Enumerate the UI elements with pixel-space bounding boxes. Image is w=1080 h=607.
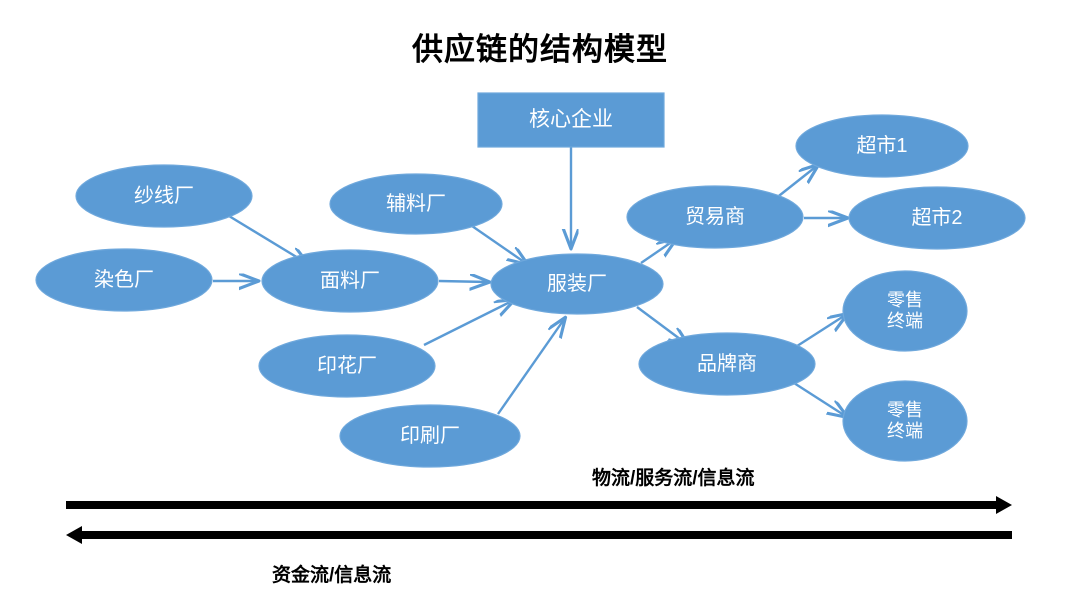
node-shape-fabric_factory[interactable] (262, 250, 438, 312)
flow-arrow-group (66, 496, 1012, 544)
node-shape-group (36, 93, 1025, 467)
flow-arrow-reverse_flow (66, 526, 1012, 544)
node-shape-garment_factory[interactable] (491, 254, 663, 314)
connector-fabric_factory-to-garment_factory (439, 281, 489, 282)
node-shape-retail_terminal_1[interactable] (843, 271, 967, 351)
node-shape-press_factory[interactable] (340, 405, 520, 467)
connector-brand_owner-to-retail_terminal_2 (794, 383, 847, 417)
node-shape-print_factory[interactable] (259, 335, 435, 397)
connector-print_factory-to-garment_factory (424, 300, 514, 345)
flow-caption-reverse_flow: 资金流/信息流 (272, 560, 391, 587)
connector-trader-to-supermarket_1 (775, 165, 818, 199)
node-shape-core_enterprise[interactable] (478, 93, 664, 147)
connector-press_factory-to-garment_factory (498, 318, 565, 414)
flow-arrow-forward_flow (66, 496, 1012, 514)
node-shape-accessory_factory[interactable] (330, 174, 502, 234)
connector-brand_owner-to-retail_terminal_1 (794, 314, 847, 348)
node-shape-dye_factory[interactable] (36, 249, 212, 311)
node-shape-supermarket_1[interactable] (796, 115, 968, 177)
node-shape-brand_owner[interactable] (639, 333, 815, 395)
connector-accessory_factory-to-garment_factory (472, 226, 527, 264)
flow-caption-forward_flow: 物流/服务流/信息流 (592, 463, 755, 490)
node-shape-trader[interactable] (627, 186, 803, 248)
supply-chain-diagram: 供应链的结构模型 核心企业纱线厂染色厂辅料厂面料厂印花厂印刷厂服装厂贸易商超市1… (0, 0, 1080, 607)
node-shape-yarn_factory[interactable] (76, 165, 252, 227)
node-shape-retail_terminal_2[interactable] (843, 381, 967, 461)
node-shape-supermarket_2[interactable] (849, 187, 1025, 249)
diagram-canvas (0, 0, 1080, 607)
